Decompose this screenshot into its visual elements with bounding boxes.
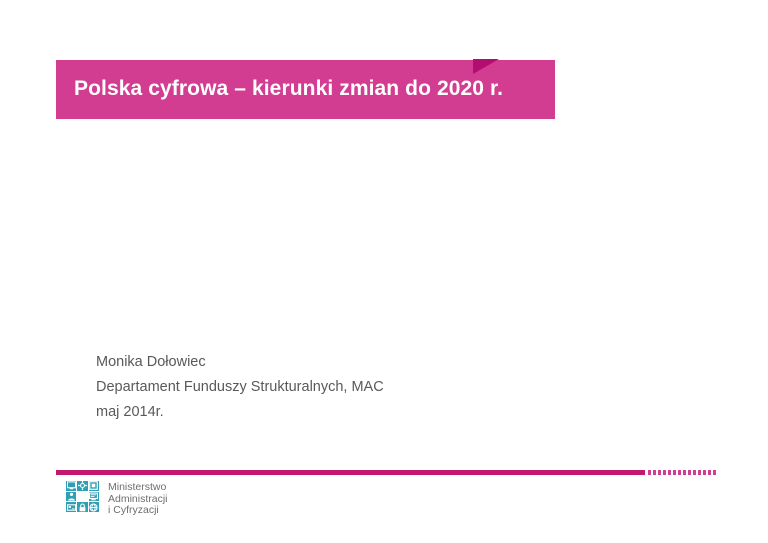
dot-mark	[658, 470, 661, 475]
author-department: Departament Funduszy Strukturalnych, MAC	[96, 375, 556, 400]
ministry-name-line-1: Ministerstwo	[108, 482, 168, 494]
ministry-logo: Ministerstwo Administracji i Cyfryzacji	[66, 481, 168, 517]
globe-icon	[89, 502, 99, 512]
ministry-name-line-3: i Cyfryzacji	[108, 505, 168, 517]
dot-mark	[653, 470, 656, 475]
author-name: Monika Dołowiec	[96, 350, 556, 375]
dot-mark	[678, 470, 681, 475]
dot-mark	[688, 470, 691, 475]
person-icon	[66, 492, 76, 502]
banner-tail-shape	[473, 59, 499, 74]
computer-icon	[89, 492, 99, 502]
card-icon	[66, 502, 76, 512]
dot-mark	[668, 470, 671, 475]
logo-icon-grid	[66, 481, 99, 512]
presentation-date: maj 2014r.	[96, 400, 556, 425]
dot-mark	[683, 470, 686, 475]
lock-icon	[77, 502, 87, 512]
monitor-icon	[66, 481, 76, 491]
dot-mark	[693, 470, 696, 475]
dot-mark	[648, 470, 651, 475]
gear-icon	[77, 481, 87, 491]
ministry-logo-text: Ministerstwo Administracji i Cyfryzacji	[108, 481, 168, 517]
footer-dotted-line	[648, 470, 718, 475]
blank-tile	[77, 492, 87, 502]
footer-divider-line	[56, 470, 645, 475]
dot-mark	[663, 470, 666, 475]
window-icon	[89, 481, 99, 491]
dot-mark	[703, 470, 706, 475]
dot-mark	[713, 470, 716, 475]
dot-mark	[698, 470, 701, 475]
dot-mark	[708, 470, 711, 475]
author-block: Monika Dołowiec Departament Funduszy Str…	[96, 350, 556, 425]
dot-mark	[673, 470, 676, 475]
slide-canvas: Polska cyfrowa – kierunki zmian do 2020 …	[0, 0, 768, 543]
page-title: Polska cyfrowa – kierunki zmian do 2020 …	[56, 77, 503, 102]
